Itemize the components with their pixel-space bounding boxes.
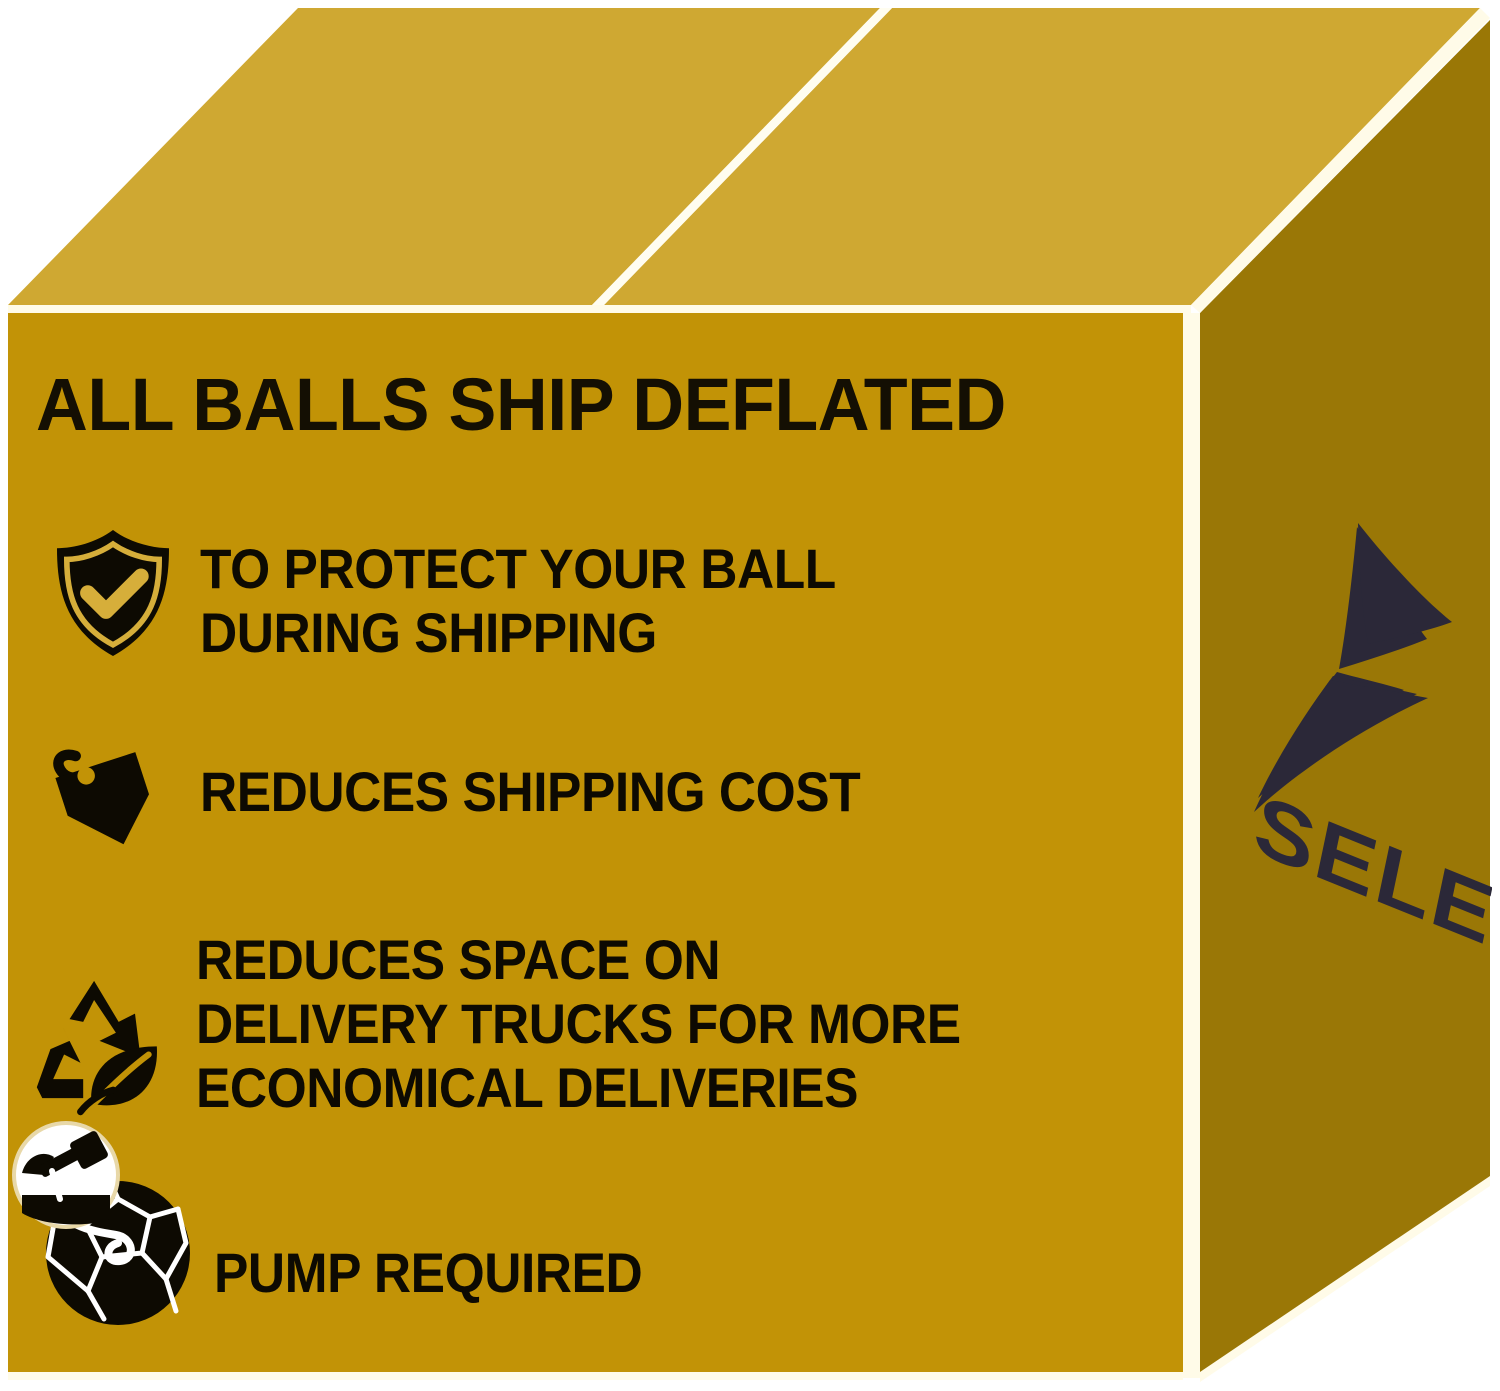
box-front-side-edge <box>1183 313 1200 1378</box>
price-tag-icon <box>38 738 188 858</box>
box-front-bottom-edge <box>8 1372 1183 1380</box>
page-title: ALL BALLS SHIP DEFLATED <box>36 365 1132 445</box>
infographic-canvas: SELECT ALL BALLS SHIP DEFLATED TO PROTEC… <box>0 0 1500 1391</box>
feature-row-protect: TO PROTECT YOUR BALL DURING SHIPPING <box>38 523 1158 665</box>
feature-text: TO PROTECT YOUR BALL DURING SHIPPING <box>200 537 836 665</box>
feature-row-pump: PUMP REQUIRED <box>0 1113 1140 1328</box>
shield-check-icon <box>38 523 188 663</box>
feature-text: REDUCES SPACE ON DELIVERY TRUCKS FOR MOR… <box>196 928 961 1120</box>
feature-row-space: REDUCES SPACE ON DELIVERY TRUCKS FOR MOR… <box>22 928 1162 1120</box>
recycle-leaf-icon <box>22 970 188 1120</box>
ball-pump-icon <box>0 1113 210 1328</box>
feature-text: REDUCES SHIPPING COST <box>200 760 860 824</box>
feature-row-cost: REDUCES SHIPPING COST <box>38 738 1158 858</box>
feature-text: PUMP REQUIRED <box>214 1241 642 1305</box>
box-top-front-edge <box>8 305 1191 313</box>
